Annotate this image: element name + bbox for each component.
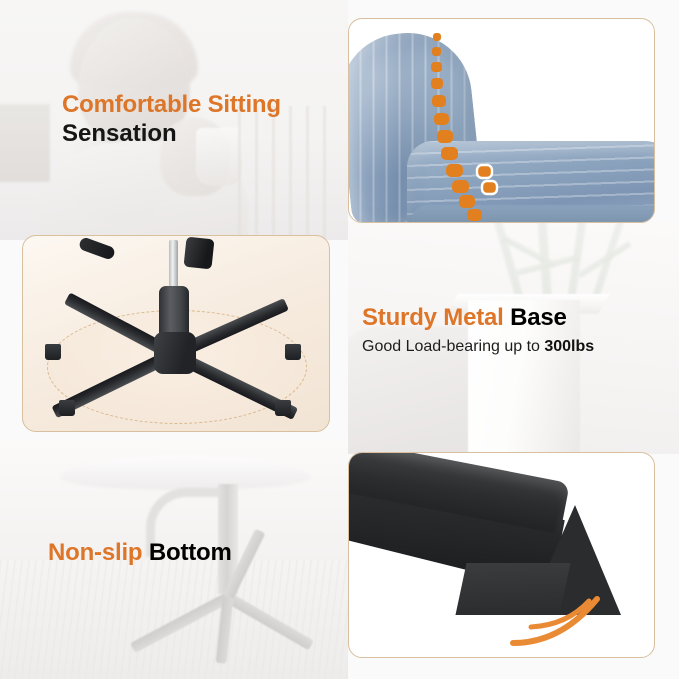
background-seat-shape (60, 456, 310, 490)
headline-accent-comfortable: Comfortable Sitting (62, 90, 281, 119)
chair-back-spine-panel (348, 18, 655, 223)
motion-arc-icon (349, 453, 655, 658)
subtext-load-bearing: Good Load-bearing up to 300lbs (362, 337, 594, 358)
headline-plain-sensation: Sensation (62, 119, 281, 148)
headline-sturdy-metal-base: Sturdy Metal Base (362, 303, 594, 332)
subtext-prefix: Good Load-bearing up to (362, 338, 544, 355)
headline-plain-bottom: Bottom (149, 539, 232, 566)
base-foot-cap (285, 344, 301, 360)
metal-base-panel (22, 235, 330, 432)
headline-accent-non-slip: Non-slip (48, 539, 142, 566)
base-center-hub (154, 332, 196, 374)
base-foot-cap (59, 400, 75, 416)
background-monitor-shape (0, 104, 50, 182)
non-slip-foot-panel (348, 452, 655, 658)
headline-non-slip-bottom: Non-slip Bottom (48, 538, 232, 567)
subtext-load-value: 300lbs (544, 338, 594, 355)
infographic-stage: Comfortable Sitting Sensation Sturdy Met… (0, 0, 679, 679)
height-lever-icon (78, 236, 116, 261)
adjustment-knob (184, 237, 215, 270)
feature-text-comfortable-sitting: Comfortable Sitting Sensation (62, 90, 281, 149)
headline-plain-base: Base (510, 304, 567, 331)
headline-accent-sturdy-metal: Sturdy Metal (362, 304, 504, 331)
feature-text-non-slip-bottom: Non-slip Bottom (48, 538, 232, 567)
feature-text-sturdy-metal-base: Sturdy Metal Base Good Load-bearing up t… (362, 303, 594, 358)
base-foot-cap (45, 344, 61, 360)
base-foot-cap (275, 400, 291, 416)
spine-curve-icon (349, 19, 655, 223)
